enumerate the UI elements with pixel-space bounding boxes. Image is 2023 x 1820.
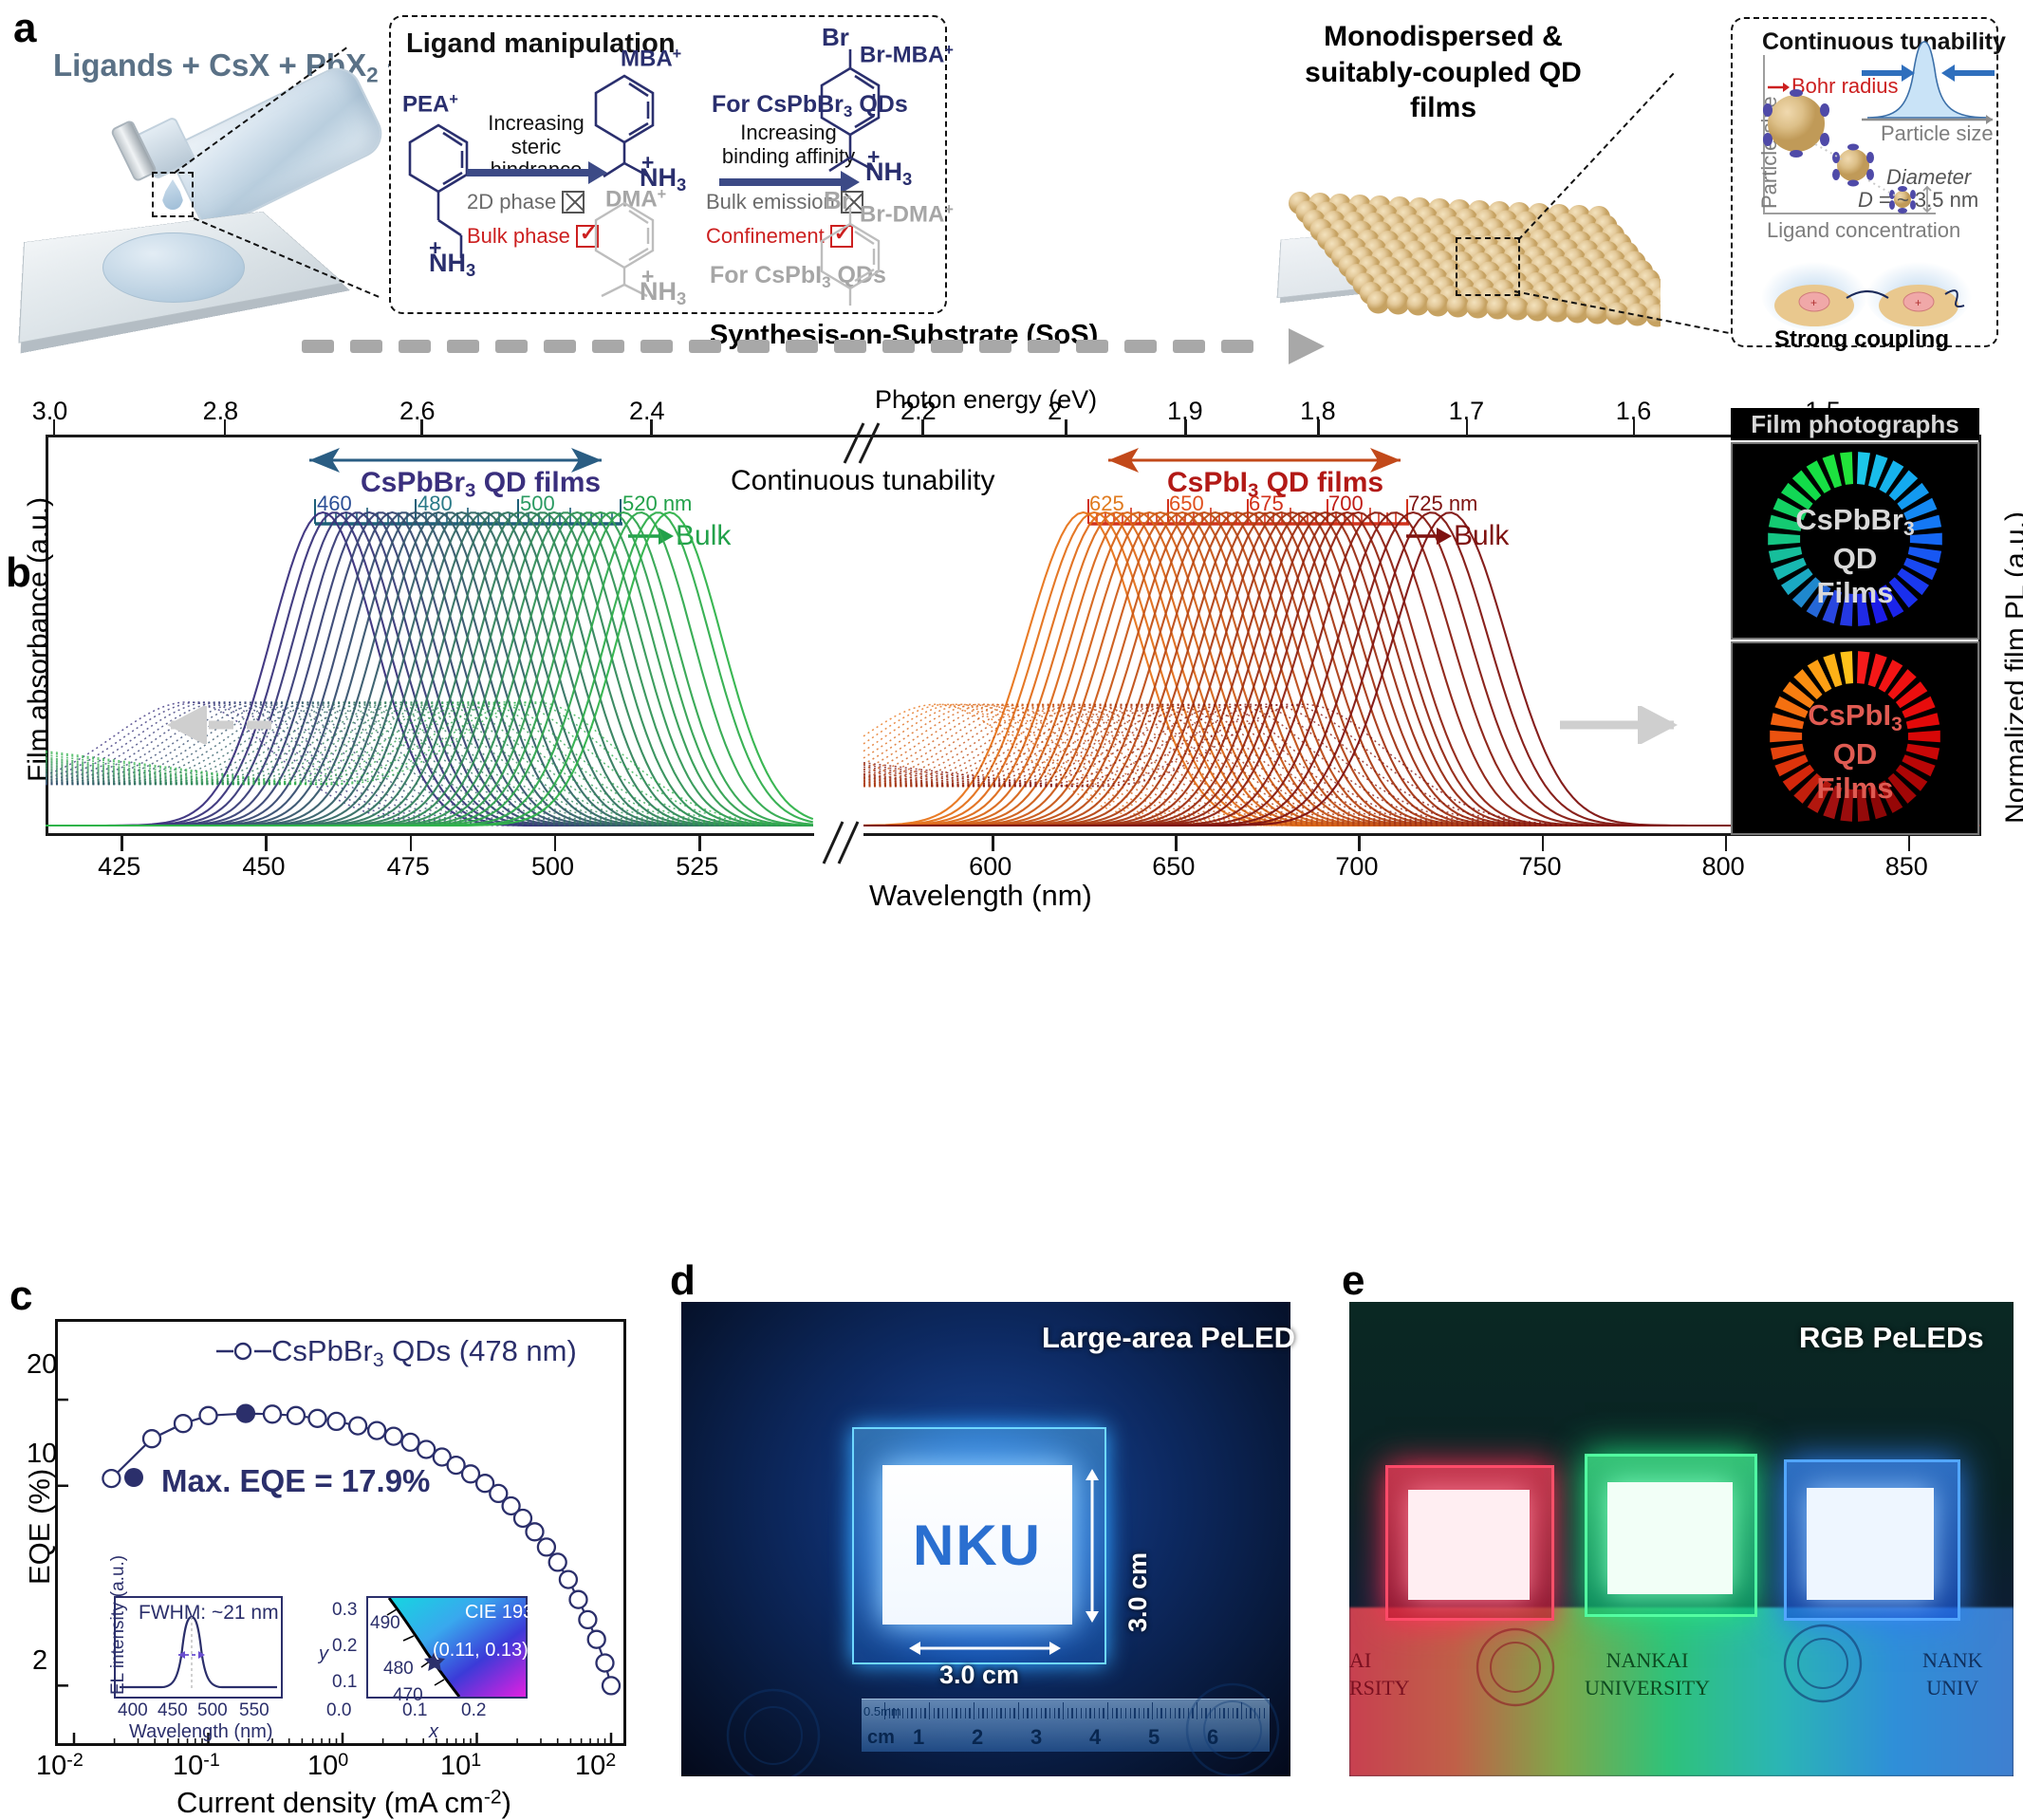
energy-tickmark [1317,419,1320,435]
ruler-tick [965,1708,966,1718]
wl-tick-850: 850 [1885,852,1928,882]
panel-a-letter: a [13,8,36,49]
wl-tick-450: 450 [242,852,285,882]
ruler-tick [947,1708,948,1718]
ruler-tick [911,1708,912,1718]
eqe-xtick-2: 100 [307,1750,348,1782]
ruler-tick [1157,1708,1158,1718]
width-dimension-label: 3.0 cm [939,1661,1019,1690]
pea-nh3: NH3 [429,249,475,281]
ruler-tick [996,1708,997,1718]
eqe-ytick-20: 20 [27,1349,57,1381]
wl-tick-800: 800 [1702,852,1745,882]
energy-tickmark [1065,419,1067,435]
ruler-tick [960,1708,961,1718]
wl-tickmark [1358,836,1361,851]
ruler-tick [916,1708,917,1718]
wavelength-axis-title: Wavelength (nm) [869,879,1092,913]
panel-a: a Ligands + CsX + PbX2 + DMSO Ligand man… [0,0,2023,380]
cie-xtick-01: 0.1 [402,1700,427,1721]
ruler-tick [952,1708,953,1718]
blue-peled-emissive [1807,1488,1934,1600]
ruler-tick [937,1708,938,1718]
el-inset-curve [116,1606,281,1697]
green-peled-emissive [1607,1482,1733,1594]
ruler-tick [1005,1708,1006,1718]
watermark-text-red: AIRSITY [1349,1647,1410,1701]
cie-xtick-00: 0.0 [326,1700,351,1721]
ruler-mark-5: 5 [1148,1725,1160,1750]
ruler-tick [1139,1708,1140,1718]
panel-e-caption: RGB PeLEDs [1799,1321,1984,1355]
ruler-tick [1058,1708,1059,1718]
ruler-tick [1152,1702,1153,1719]
ruler-tick [1018,1702,1019,1719]
ruler-tick [1000,1708,1001,1718]
ruler-tick [1031,1708,1032,1718]
wl-tickmark [265,836,268,851]
ruler-note: 0.5mm [863,1704,901,1718]
ruler-tick [1160,1708,1161,1718]
eqe-ytick-10: 10 [27,1439,57,1470]
ruler-tick [956,1708,956,1718]
watermark-seal-blue [1778,1619,1867,1708]
ruler-tick [1103,1708,1104,1718]
panel-d-caption: Large-area PeLED [1042,1321,1295,1355]
ruler-tick [982,1708,983,1718]
wl-tickmark [554,836,557,851]
ruler-tick [1094,1708,1095,1718]
diameter-label: Diameter [1886,165,1971,190]
ruler-tick [934,1708,935,1718]
height-dimension-label: 3.0 cm [1123,1552,1153,1632]
ruler-tick [942,1708,943,1718]
watermark-seal-right [1180,1678,1285,1776]
el-inset-xtick-450: 450 [158,1700,188,1721]
eqe-x-axis-title: Current density (mA cm-2) [176,1786,511,1820]
energy-tickmark [1184,419,1187,435]
spectra-curves [46,435,1981,835]
energy-tick-3.0: 3.0 [32,397,68,426]
watermark-text-green: NANKAIUNIVERSITY [1585,1647,1710,1701]
cie-xtick-02: 0.2 [461,1700,486,1721]
ruler-tick [1130,1708,1131,1718]
energy-tick-2.6: 2.6 [399,397,436,426]
el-inset-x-axis: Wavelength (nm) [129,1721,273,1743]
y-axis-right-title: Normalized film PL (a.u.) [2000,511,2023,824]
ruler-mark-1: 1 [913,1725,924,1750]
cspbi3-film-photo: CsPbI3QDFilms [1731,641,1979,835]
wl-tickmark [1542,836,1545,851]
ruler-tick [1036,1708,1037,1718]
ruler-tick [1049,1708,1050,1718]
wl-tick-700: 700 [1335,852,1378,882]
cie-y-axis: y [319,1644,328,1665]
wl-tickmark [1908,836,1911,851]
wl-tick-750: 750 [1519,852,1562,882]
ruler-tick [969,1708,970,1718]
cspbbr3-film-photo: CsPbBr3QDFilms [1731,442,1979,640]
eqe-xtick-3: 101 [440,1750,481,1782]
check-2d-phase: 2D phase [467,190,585,214]
panel-c-letter: c [9,1275,32,1317]
qd-zoom-box [1456,237,1520,296]
energy-tick-2.4: 2.4 [629,397,665,426]
energy-tickmark [921,419,924,435]
el-inset-xtick-550: 550 [239,1700,269,1721]
energy-tickmark [1466,419,1469,435]
panel-e-letter: e [1342,1260,1364,1302]
panel-e: e NANKAIUNIVERSITY NANKUNIV AIRSITY RGB … [1338,1234,2023,1819]
wl-tickmark [1725,836,1728,851]
arrow1 [467,169,590,176]
peled-device-text: NKU [882,1492,1072,1598]
ruler-tick [1121,1708,1122,1718]
panel-c: c CsPbBr3 QDs (478 nm) Max. EQE = 17.9% … [0,1234,664,1819]
energy-tick-2.8: 2.8 [203,397,239,426]
ruler-tick [1099,1708,1100,1718]
energy-tickmark [224,419,227,435]
width-dimension-arrow [909,1636,1061,1661]
ruler-tick [1143,1708,1144,1718]
wl-tickmark [410,836,413,851]
check-bulk-phase-label: Bulk phase [467,224,570,249]
ruler-tick [1071,1708,1072,1718]
film-photographs-header: Film photographs [1731,408,1979,440]
ruler-tick [1041,1708,1042,1718]
ruler-tick [893,1708,894,1718]
ruler-tick [1010,1708,1011,1718]
qd-film-title: Monodispersed &suitably-coupled QD films [1268,19,1619,126]
ruler-tick [1170,1708,1171,1718]
ruler-tick [929,1702,930,1719]
wl-tick-475: 475 [387,852,430,882]
cie-locus-490: 490 [370,1613,400,1634]
wl-tick-525: 525 [676,852,718,882]
strong-coupling-illustration: + + [1755,239,1983,330]
ruler-tick [1045,1708,1046,1718]
ruler-tick [1076,1708,1077,1718]
panel-b: b Photon energy (eV) 3.02.82.62.42.221.9… [0,380,2023,911]
wl-tick-650: 650 [1152,852,1195,882]
ruler-tick [1063,1702,1064,1719]
ruler-tick [920,1708,921,1718]
ruler-unit: cm [867,1727,895,1749]
ruler-tick [1054,1708,1055,1718]
rgb-peleds-photo: NANKAIUNIVERSITY NANKUNIV AIRSITY [1349,1302,2014,1776]
ruler-tick [1134,1708,1135,1718]
ruler-tick [1147,1708,1148,1718]
cie-coords: (0.11, 0.13) [433,1640,529,1662]
strong-coupling-title: Strong coupling [1774,326,1949,353]
height-dimension-arrow [1080,1469,1104,1623]
eqe-xtick-4: 102 [575,1750,616,1782]
wl-tick-600: 600 [969,852,1011,882]
ruler-tick [902,1708,903,1718]
ruler-tick [1081,1708,1082,1718]
eqe-xtick-1: 10-1 [173,1750,220,1782]
panel-d: d NKU 3.0 cm 3.0 cm cm 0.5mm 123456 [664,1234,1338,1819]
ruler-tick [907,1708,908,1718]
ruler-tick [924,1708,925,1718]
energy-tickmark [1633,419,1636,435]
ruler-tick [1116,1708,1117,1718]
ruler-tick [1165,1708,1166,1718]
energy-tickmark [420,419,423,435]
solution-puddle [102,232,245,303]
blueshift-arrow [123,706,285,744]
wl-tickmark [698,836,701,851]
brmba-nh3: NH3 [865,158,912,190]
watermark-seal-red [1471,1623,1560,1712]
panel-d-letter: d [670,1260,696,1302]
el-inset-y-axis: EL intensity (a.u.) [108,1555,129,1695]
watermark-seal-left [721,1683,826,1776]
cspbbr3-wheel-label: CsPbBr3QDFilms [1733,503,1977,611]
ruler-tick [1125,1708,1126,1718]
redshift-arrow [1556,706,1727,744]
wl-tickmark [121,836,123,851]
ruler-tick [889,1708,890,1718]
ruler-tick [1089,1708,1090,1718]
cie-ytick-01: 0.1 [332,1672,357,1693]
ruler-tick [1086,1708,1086,1718]
large-area-peled-photo: NKU 3.0 cm 3.0 cm cm 0.5mm 123456 [681,1302,1290,1776]
svg-text:+: + [1810,296,1817,309]
ruler-tick [1107,1702,1108,1719]
wl-tick-500: 500 [531,852,574,882]
peak-x-axis-label: Particle size [1881,121,1994,146]
ruler-tick [974,1702,974,1719]
ruler-tick [1175,1708,1176,1718]
cie-locus-480: 480 [383,1659,414,1680]
check-2d-phase-label: 2D phase [467,190,556,214]
energy-tick-2: 2 [1048,397,1062,426]
sos-arrow-head [1289,328,1325,364]
cie-x-axis: x [429,1721,438,1743]
el-inset-xtick-500: 500 [197,1700,228,1721]
eqe-y-axis-title: EQE (%) [23,1469,57,1585]
sos-arrow-dashes [302,340,1289,353]
el-inset-xtick-400: 400 [118,1700,148,1721]
cie-ytick-03: 0.3 [332,1600,357,1621]
size-distribution-peak [1858,38,1998,129]
svg-text:+: + [1915,296,1921,309]
ruler-tick [987,1708,988,1718]
ruler-tick [1023,1708,1024,1718]
ruler-tick [978,1708,979,1718]
br-dma-structure [805,205,919,319]
energy-tickmark [650,419,653,435]
energy-tick-2.2: 2.2 [900,397,937,426]
ruler-mark-4: 4 [1089,1725,1101,1750]
ruler-tick [1013,1708,1014,1718]
cie-ytick-02: 0.2 [332,1636,357,1657]
ruler-mark-3: 3 [1030,1725,1042,1750]
ruler-tick [1067,1708,1068,1718]
wl-tick-425: 425 [98,852,140,882]
watermark-text-blue: NANKUNIV [1922,1647,1983,1701]
ruler-mark-2: 2 [972,1725,983,1750]
eqe-ytick-2: 2 [32,1645,47,1677]
energy-tickmark [53,419,56,435]
eqe-xtick-0: 10-2 [36,1750,84,1782]
dma-nh3: NH3 [640,277,686,309]
ruler-tick [898,1708,899,1718]
cie-inset-title: CIE 1931 [465,1602,544,1624]
diameter-value: D = ~ 3.5 nm [1858,188,1978,213]
ruler-tick [1027,1708,1028,1718]
red-peled-emissive [1408,1490,1530,1600]
ruler-tick [1112,1708,1113,1718]
ruler-tick [992,1708,993,1718]
wl-tickmark [992,836,994,851]
wl-tickmark [1175,836,1178,851]
cspbi3-wheel-label: CsPbI3QDFilms [1733,698,1977,807]
ruler-tick [884,1702,885,1719]
